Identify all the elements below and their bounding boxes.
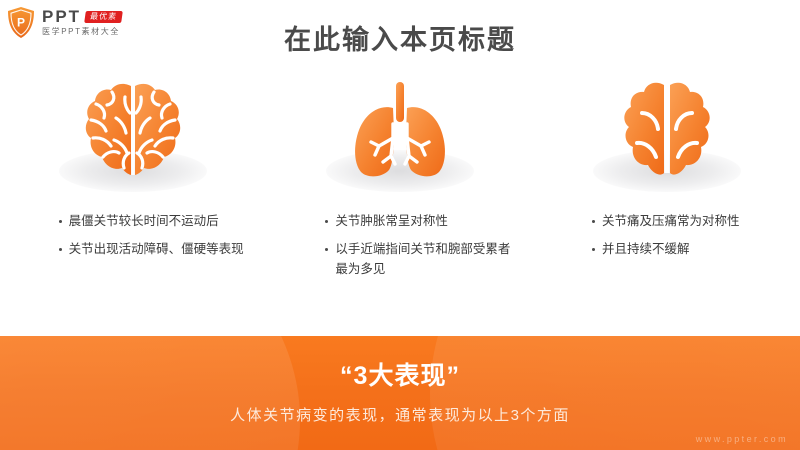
column-3: 关节痛及压痛常为对称性 并且持续不缓解	[533, 72, 800, 322]
bullet-text: 晨僵关节较长时间不运动后	[69, 212, 246, 231]
bullet-dot-icon	[325, 220, 328, 223]
brain-simple-icon	[617, 80, 717, 189]
bullet-dot-icon	[59, 248, 62, 251]
lungs-icon	[345, 80, 455, 189]
list-item: 并且持续不缓解	[592, 240, 779, 259]
list-item: 关节肿胀常呈对称性	[325, 212, 512, 231]
slide-canvas: P PPT 最优素 医学PPT素材大全 在此输入本页标题	[0, 0, 800, 450]
banner-subtitle: 人体关节病变的表现，通常表现为以上3个方面	[0, 404, 800, 425]
list-item: 关节出现活动障碍、僵硬等表现	[59, 240, 246, 259]
column-1: 晨僵关节较长时间不运动后 关节出现活动障碍、僵硬等表现	[0, 72, 267, 322]
banner-title: “3大表现”	[0, 356, 800, 392]
column-2: 关节肿胀常呈对称性 以手近端指间关节和腕部受累者最为多见	[267, 72, 534, 322]
page-title: 在此输入本页标题	[0, 18, 800, 57]
list-item: 关节痛及压痛常为对称性	[592, 212, 779, 231]
watermark-url: www.ppter.com	[696, 434, 788, 444]
bullet-dot-icon	[592, 248, 595, 251]
bullet-text: 关节出现活动障碍、僵硬等表现	[69, 240, 246, 259]
bullet-dot-icon	[592, 220, 595, 223]
bullet-list-1: 晨僵关节较长时间不运动后 关节出现活动障碍、僵硬等表现	[0, 212, 267, 269]
icon-container-3	[533, 72, 800, 190]
list-item: 晨僵关节较长时间不运动后	[59, 212, 246, 231]
icon-container-2	[267, 72, 534, 190]
footer-banner: “3大表现” 人体关节病变的表现，通常表现为以上3个方面 www.ppter.c…	[0, 336, 800, 450]
brain-icon	[80, 80, 186, 189]
bullet-list-3: 关节痛及压痛常为对称性 并且持续不缓解	[533, 212, 800, 269]
icon-container-1	[0, 72, 267, 190]
bullet-text: 以手近端指间关节和腕部受累者最为多见	[335, 240, 512, 279]
bullet-list-2: 关节肿胀常呈对称性 以手近端指间关节和腕部受累者最为多见	[267, 212, 534, 288]
bullet-text: 关节肿胀常呈对称性	[335, 212, 512, 231]
content-columns: 晨僵关节较长时间不运动后 关节出现活动障碍、僵硬等表现	[0, 72, 800, 322]
bullet-dot-icon	[325, 248, 328, 251]
bullet-text: 并且持续不缓解	[602, 240, 779, 259]
list-item: 以手近端指间关节和腕部受累者最为多见	[325, 240, 512, 279]
bullet-dot-icon	[59, 220, 62, 223]
bullet-text: 关节痛及压痛常为对称性	[602, 212, 779, 231]
